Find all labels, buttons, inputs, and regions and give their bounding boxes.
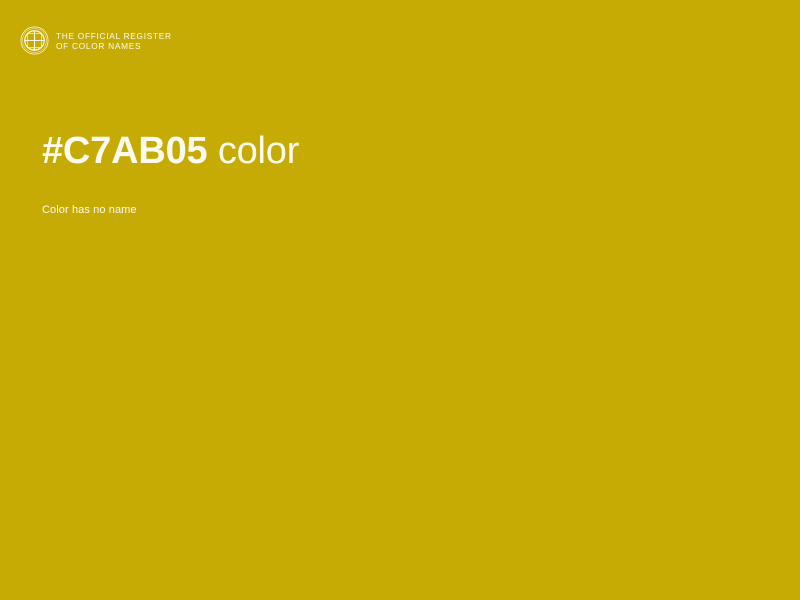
page-title-suffix: color — [207, 130, 299, 172]
color-hex-value: #C7AB05 — [42, 130, 207, 172]
brand-line-1: THE OFFICIAL REGISTER — [56, 31, 172, 42]
site-brand-logo[interactable]: THE OFFICIAL REGISTER OF COLOR NAMES — [20, 26, 172, 55]
page-title: #C7AB05 color — [42, 128, 742, 174]
register-seal-icon — [20, 26, 49, 55]
brand-line-2: OF COLOR NAMES — [56, 41, 172, 52]
color-page: THE OFFICIAL REGISTER OF COLOR NAMES #C7… — [0, 0, 800, 600]
color-info-block: #C7AB05 color Color has no name — [42, 128, 742, 218]
color-name-status: Color has no name — [42, 174, 742, 218]
brand-wordmark: THE OFFICIAL REGISTER OF COLOR NAMES — [56, 30, 172, 52]
